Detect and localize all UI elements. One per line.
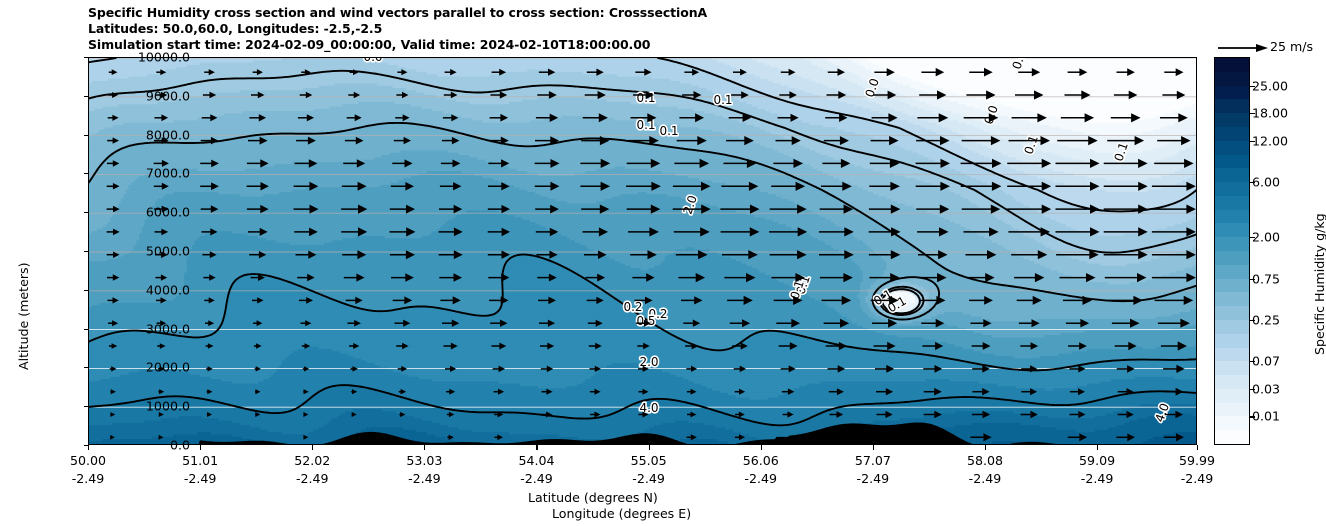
colorbar-band <box>1215 402 1249 416</box>
colorbar-tick-label: 2.00 <box>1252 230 1280 245</box>
colorbar-tick-label: 0.07 <box>1252 354 1280 369</box>
colorbar-band <box>1215 264 1249 278</box>
x-axis-tick-mark <box>424 445 425 450</box>
colorbar-band <box>1215 209 1249 223</box>
y-axis-tick-label: 9000.0 <box>146 88 190 103</box>
svg-text:0.1: 0.1 <box>636 118 655 132</box>
y-axis-tick-label: 6000.0 <box>146 205 190 220</box>
x-axis-tick-label: 57.07-2.49 <box>855 453 891 486</box>
y-axis-tick-label: 3000.0 <box>146 321 190 336</box>
x-axis-tick-mark <box>88 445 89 450</box>
x-axis-tick-mark <box>312 445 313 450</box>
colorbar-band <box>1215 71 1249 85</box>
colorbar-band <box>1215 374 1249 388</box>
colorbar-label: Specific Humidity g/kg <box>1312 213 1326 355</box>
x-tick-latitude: 51.01 <box>182 453 218 468</box>
colorbar-band <box>1215 168 1249 182</box>
colorbar-band <box>1215 195 1249 209</box>
x-tick-latitude: 50.00 <box>70 453 106 468</box>
colorbar-band <box>1215 237 1249 251</box>
x-axis-tick-label: 56.06-2.49 <box>743 453 779 486</box>
x-tick-latitude: 52.02 <box>294 453 330 468</box>
x-axis-tick-label: 59.99-2.49 <box>1179 453 1215 486</box>
wind-vector-key: 25 m/s <box>1216 40 1326 58</box>
x-axis-tick-label: 59.09-2.49 <box>1079 453 1115 486</box>
colorbar-band <box>1215 278 1249 292</box>
x-tick-longitude: -2.49 <box>518 471 554 486</box>
x-tick-latitude: 59.09 <box>1079 453 1115 468</box>
colorbar-band <box>1215 99 1249 113</box>
y-axis-label: Altitude (meters) <box>16 263 31 370</box>
x-tick-longitude: -2.49 <box>1179 471 1215 486</box>
svg-text:2.0: 2.0 <box>639 355 658 369</box>
x-axis-tick-label: 58.08-2.49 <box>967 453 1003 486</box>
x-axis-tick-mark <box>649 445 650 450</box>
colorbar-band <box>1215 57 1249 71</box>
cross-section-plot: 0.10.10.10.10.00.00.00.00.10.10.20.20.52… <box>88 57 1197 445</box>
y-axis-tick-mark <box>84 173 89 174</box>
svg-text:0.1: 0.1 <box>659 124 678 138</box>
colorbar-band <box>1215 292 1249 306</box>
x-tick-longitude: -2.49 <box>743 471 779 486</box>
colorbar-tick-label: 0.25 <box>1252 312 1280 327</box>
y-axis-tick-label: 8000.0 <box>146 127 190 142</box>
colorbar-band <box>1215 250 1249 264</box>
svg-text:0.1: 0.1 <box>713 93 732 107</box>
y-axis-tick-label: 0.0 <box>170 438 190 453</box>
x-axis-label-latitude: Latitude (degrees N) <box>528 490 658 505</box>
x-tick-longitude: -2.49 <box>294 471 330 486</box>
svg-text:0.2: 0.2 <box>623 300 642 314</box>
x-axis-tick-mark <box>1197 445 1198 450</box>
colorbar-tick-label: 18.00 <box>1252 106 1288 121</box>
x-axis-tick-mark <box>985 445 986 450</box>
x-axis-tick-label: 54.04-2.49 <box>518 453 554 486</box>
colorbar-band <box>1215 223 1249 237</box>
y-axis-tick-mark <box>84 329 89 330</box>
colorbar-band <box>1215 85 1249 99</box>
title-line-3: Simulation start time: 2024-02-09_00:00:… <box>88 37 1198 53</box>
x-axis-tick-label: 55.05-2.49 <box>631 453 667 486</box>
colorbar-band <box>1215 416 1249 430</box>
colorbar-band <box>1215 306 1249 320</box>
x-axis-tick-mark <box>873 445 874 450</box>
x-tick-longitude: -2.49 <box>70 471 106 486</box>
colorbar-tick-label: 0.75 <box>1252 271 1280 286</box>
x-tick-latitude: 53.03 <box>406 453 442 468</box>
x-tick-longitude: -2.49 <box>406 471 442 486</box>
colorbar-band <box>1215 319 1249 333</box>
right-arrow-icon <box>1216 40 1270 56</box>
colorbar-tick-label: 25.00 <box>1252 78 1288 93</box>
x-tick-longitude: -2.49 <box>631 471 667 486</box>
svg-text:4.0: 4.0 <box>639 401 658 415</box>
colorbar-band <box>1215 333 1249 347</box>
y-axis-tick-mark <box>84 96 89 97</box>
y-axis-tick-label: 7000.0 <box>146 166 190 181</box>
colorbar-band <box>1215 361 1249 375</box>
figure-title: Specific Humidity cross section and wind… <box>88 5 1198 54</box>
x-tick-longitude: -2.49 <box>1079 471 1115 486</box>
x-tick-longitude: -2.49 <box>967 471 1003 486</box>
colorbar-band <box>1215 126 1249 140</box>
x-axis-tick-label: 50.00-2.49 <box>70 453 106 486</box>
y-axis-tick-label: 10000.0 <box>138 50 190 65</box>
x-axis-tick-label: 52.02-2.49 <box>294 453 330 486</box>
humidity-shading <box>89 58 1197 445</box>
x-tick-latitude: 56.06 <box>743 453 779 468</box>
x-axis-tick-mark <box>200 445 201 450</box>
y-axis-tick-label: 4000.0 <box>146 282 190 297</box>
y-axis-tick-label: 2000.0 <box>146 360 190 375</box>
x-axis-tick-mark <box>761 445 762 450</box>
y-axis-tick-mark <box>84 135 89 136</box>
x-tick-latitude: 55.05 <box>631 453 667 468</box>
svg-text:0.0: 0.0 <box>363 58 382 64</box>
colorbar-tick-label: 0.03 <box>1252 381 1280 396</box>
colorbar-band <box>1215 154 1249 168</box>
colorbar-tick-label: 0.01 <box>1252 409 1280 424</box>
y-axis-tick-mark <box>84 406 89 407</box>
title-line-2: Latitudes: 50.0,60.0, Longitudes: -2.5,-… <box>88 21 1198 37</box>
y-axis-tick-mark <box>84 212 89 213</box>
figure-root: Specific Humidity cross section and wind… <box>0 0 1326 526</box>
x-tick-longitude: -2.49 <box>855 471 891 486</box>
x-axis-tick-label: 53.03-2.49 <box>406 453 442 486</box>
colorbar-band <box>1215 347 1249 361</box>
colorbar-band <box>1215 430 1249 444</box>
y-axis-tick-mark <box>84 57 89 58</box>
colorbar-band <box>1215 388 1249 402</box>
colorbar-tick-label: 12.00 <box>1252 133 1288 148</box>
colorbar-band <box>1215 113 1249 127</box>
x-axis-tick-label: 51.01-2.49 <box>182 453 218 486</box>
x-tick-latitude: 59.99 <box>1179 453 1215 468</box>
wind-key-label: 25 m/s <box>1270 39 1313 54</box>
x-axis-label-longitude: Longitude (degrees E) <box>552 506 691 521</box>
x-tick-latitude: 58.08 <box>967 453 1003 468</box>
x-tick-latitude: 57.07 <box>855 453 891 468</box>
title-line-1: Specific Humidity cross section and wind… <box>88 5 1198 21</box>
colorbar-band <box>1215 140 1249 154</box>
x-axis-tick-mark <box>536 445 537 450</box>
colorbar-band <box>1215 181 1249 195</box>
y-axis-tick-mark <box>84 290 89 291</box>
colorbar-tick-label: 6.00 <box>1252 175 1280 190</box>
y-axis-tick-label: 5000.0 <box>146 244 190 259</box>
colorbar[interactable] <box>1214 57 1250 445</box>
y-axis-tick-label: 1000.0 <box>146 399 190 414</box>
x-axis-tick-mark <box>1097 445 1098 450</box>
y-axis-tick-mark <box>84 367 89 368</box>
y-axis-tick-mark <box>84 251 89 252</box>
x-tick-latitude: 54.04 <box>518 453 554 468</box>
x-tick-longitude: -2.49 <box>182 471 218 486</box>
